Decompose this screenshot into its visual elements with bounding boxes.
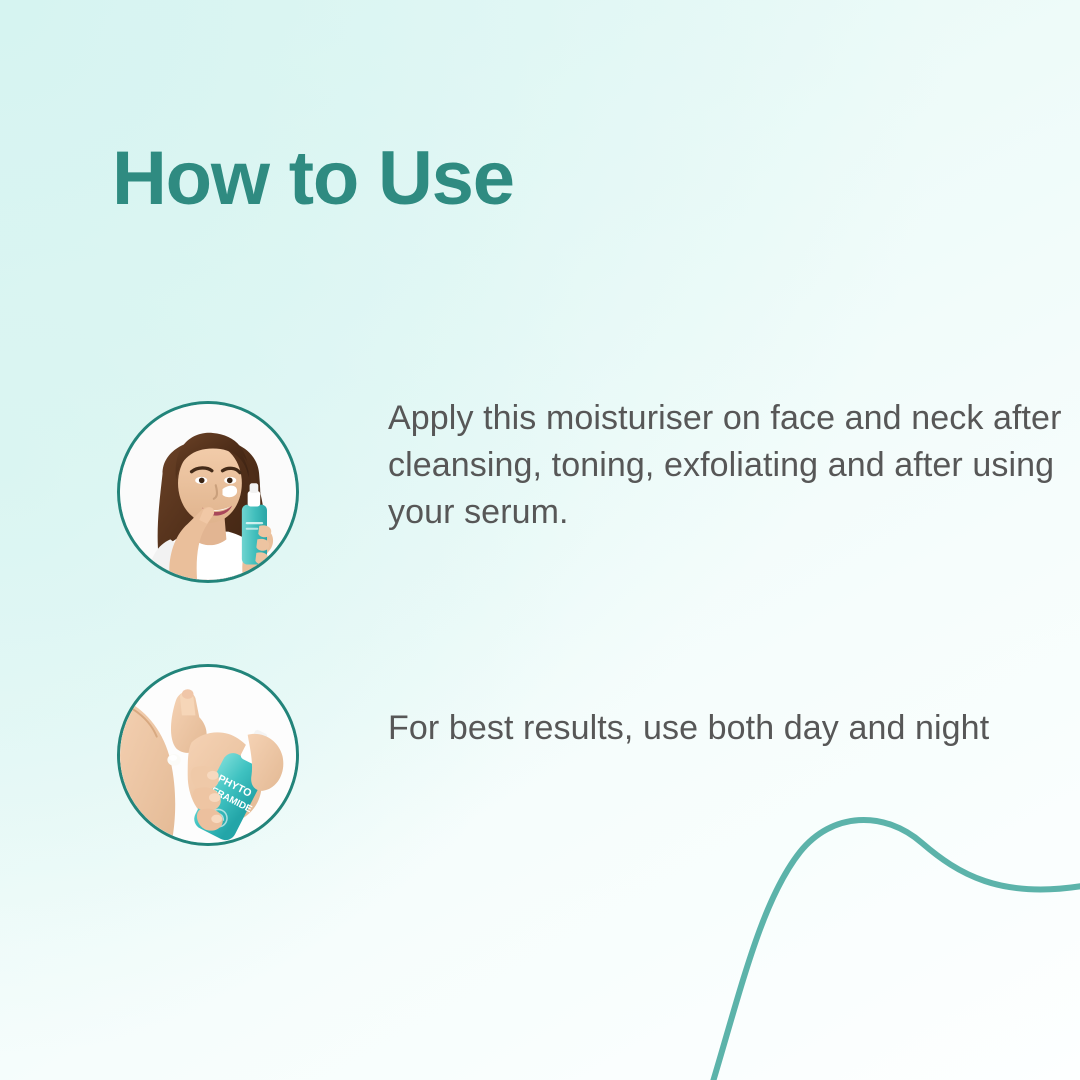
hands-dispensing-product-illustration: PHYTO CERAMIDE [120, 667, 296, 843]
woman-applying-moisturiser-photo [117, 401, 299, 583]
hands-dispensing-product-photo: PHYTO CERAMIDE [117, 664, 299, 846]
woman-applying-moisturiser-illustration [120, 404, 296, 580]
step-item-2: PHYTO CERAMIDE For best re [117, 664, 1080, 846]
step-1-text: Apply this moisturiser on face and neck … [388, 395, 1080, 536]
step-2-text: For best results, use both day and night [388, 705, 1080, 752]
step-item-1: Apply this moisturiser on face and neck … [117, 401, 1080, 583]
how-to-use-card: How to Use [0, 0, 1080, 1080]
page-title: How to Use [112, 139, 514, 218]
